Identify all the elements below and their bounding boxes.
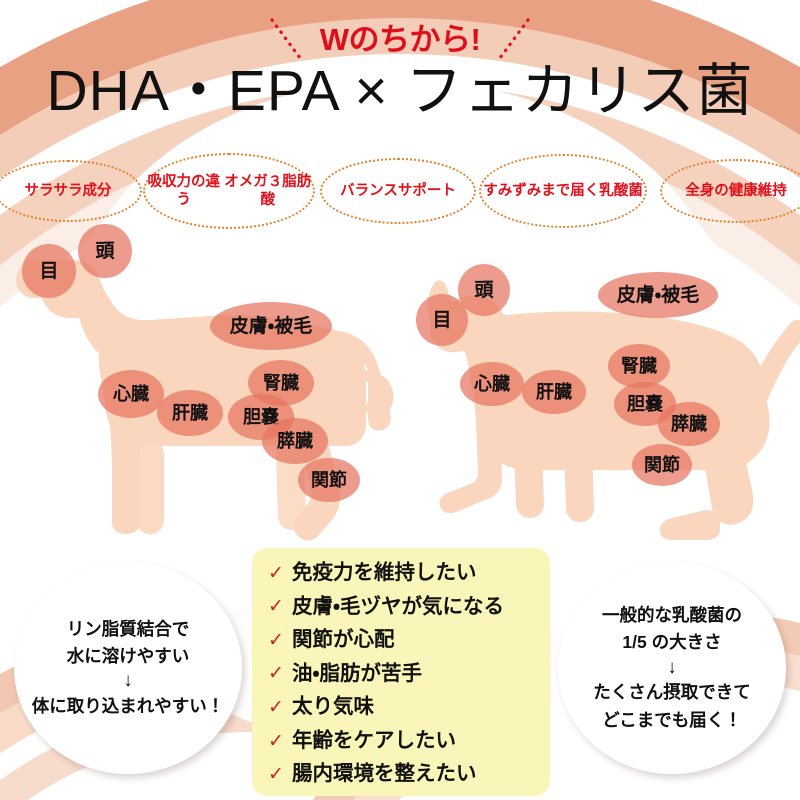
checklist-item-label: 年齢をケアしたい: [292, 730, 456, 753]
benefit-tag-whole-body: 全身の健康維持: [660, 159, 800, 223]
cat-organ-label: 頭: [458, 264, 510, 316]
checklist-item: ✓ 油・脂肪が苦手: [268, 663, 536, 686]
down-arrow-icon: ↓: [593, 657, 751, 680]
note-left-line3: 体に取り込まれやすい！: [32, 693, 225, 720]
eyebrow-text: Wのちから!: [320, 24, 481, 55]
checklist-item-label: 太り気味: [292, 696, 374, 719]
check-icon: ✓: [268, 698, 284, 717]
checklist-item: ✓ 腸内環境を整えたい: [268, 763, 536, 786]
checklist-item: ✓ 年齢をケアしたい: [268, 730, 536, 753]
dotted-slash-left-icon: [270, 16, 304, 62]
checklist-item: ✓ 太り気味: [268, 696, 536, 719]
benefit-tag-lactic-acid: すみずみまで届く乳酸菌: [479, 154, 647, 228]
animal-diagram-area: 目 頭 皮膚・被毛 心臓 肝臓 腎臓 胆嚢 膵臓 関節 目: [0, 222, 800, 552]
checklist-item: ✓ 免疫力を維持したい: [268, 562, 536, 585]
eyebrow-row: Wのちから!: [0, 14, 800, 64]
dog-organ-label: 関節: [298, 458, 360, 502]
note-right-line1: 一般的な乳酸菌の: [593, 602, 751, 629]
benefit-checklist: ✓ 免疫力を維持したい ✓ 皮膚・毛ヅヤが気になる ✓ 関節が心配 ✓ 油・脂肪…: [252, 548, 550, 796]
bottom-panels: リン脂質結合で 水に溶けやすい ↓ 体に取り込まれやすい！ ✓ 免疫力を維持した…: [0, 540, 800, 800]
dog-organ-label: 膵臓: [262, 418, 328, 464]
note-phospholipid: リン脂質結合で 水に溶けやすい ↓ 体に取り込まれやすい！: [14, 562, 242, 774]
check-icon: ✓: [268, 664, 284, 683]
dotted-slash-right-icon: [496, 16, 530, 62]
checklist-item-label: 腸内環境を整えたい: [292, 763, 477, 786]
infographic-root: Wのちから! DHA・EPA × フェカリス菌 サラサラ成分 吸収力の違うオメガ…: [0, 0, 800, 800]
benefit-tag-sarasara: サラサラ成分: [0, 160, 142, 222]
checklist-item-label: 関節が心配: [292, 629, 395, 652]
note-right-line2: 1/5 の大きさ: [593, 629, 751, 656]
note-bacteria-size: 一般的な乳酸菌の 1/5 の大きさ ↓ たくさん摂取できて どこまでも届く！: [558, 562, 786, 774]
cat-organ-label: 心臓: [460, 362, 524, 406]
checklist-item: ✓ 関節が心配: [268, 629, 536, 652]
down-arrow-icon: ↓: [32, 670, 225, 693]
dog-organ-label: 皮膚・被毛: [210, 302, 332, 350]
cat-organ-label: 肝臓: [522, 370, 586, 414]
dog-organ-label: 心臓: [98, 370, 164, 418]
cat-organ-label: 皮膚・被毛: [598, 272, 718, 318]
note-left-line1: リン脂質結合で: [32, 616, 225, 643]
check-icon: ✓: [268, 631, 284, 650]
cat-organ-label: 膵臓: [658, 402, 720, 446]
dog-organ-label: 頭: [78, 224, 132, 278]
page-title: DHA・EPA × フェカリス菌: [0, 62, 800, 122]
cat-organ-label: 関節: [632, 444, 692, 486]
benefit-tag-balance: バランスサポート: [320, 158, 476, 224]
checklist-item-label: 免疫力を維持したい: [292, 562, 477, 585]
checklist-item-label: 油・脂肪が苦手: [292, 663, 422, 686]
benefit-tag-omega3: 吸収力の違うオメガ３脂肪酸: [143, 153, 315, 229]
header: Wのちから! DHA・EPA × フェカリス菌: [0, 0, 800, 150]
checklist-item-label: 皮膚・毛ヅヤが気になる: [292, 596, 504, 619]
check-icon: ✓: [268, 564, 284, 583]
check-icon: ✓: [268, 732, 284, 751]
note-right-line4: どこまでも届く！: [593, 707, 751, 734]
note-left-line2: 水に溶けやすい: [32, 643, 225, 670]
dog-organ-label: 肝臓: [157, 390, 223, 436]
check-icon: ✓: [268, 597, 284, 616]
dog-organ-label: 目: [22, 244, 76, 298]
checklist-item: ✓ 皮膚・毛ヅヤが気になる: [268, 596, 536, 619]
check-icon: ✓: [268, 765, 284, 784]
benefit-tag-row: サラサラ成分 吸収力の違うオメガ３脂肪酸 バランスサポート すみずみまで届く乳酸…: [0, 152, 800, 230]
note-right-line3: たくさん摂取できて: [593, 679, 751, 706]
